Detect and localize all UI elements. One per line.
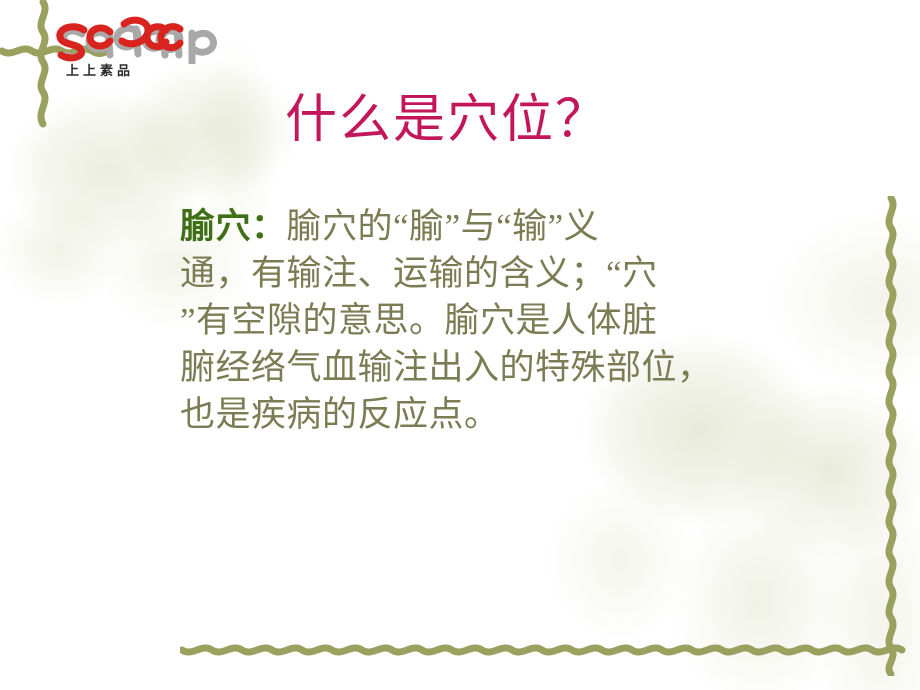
- logo-wordmark-icon: [48, 8, 228, 64]
- presentation-slide: 上上素品 什么是穴位？ 腧穴：腧穴的“腧”与“输”义 通，有输注、运输的含义；“…: [0, 0, 920, 690]
- vine-right-vertical-icon: [878, 196, 904, 676]
- body-line-5: 也是疾病的反应点。: [180, 391, 750, 438]
- body-text-block: 腧穴：腧穴的“腧”与“输”义 通，有输注、运输的含义；“穴 ”有空隙的意思。腧穴…: [180, 203, 750, 438]
- lead-colon: ：: [251, 207, 287, 246]
- body-line-1-text: 腧穴的“腧”与“输”义: [287, 207, 600, 246]
- brand-logo[interactable]: 上上素品: [48, 8, 228, 86]
- body-line-4: 腑经络气血输注出入的特殊部位，: [180, 344, 750, 391]
- body-line-2: 通，有输注、运输的含义；“穴: [180, 250, 750, 297]
- body-line-1: 腧穴：腧穴的“腧”与“输”义: [180, 203, 750, 250]
- logo-subtitle: 上上素品: [66, 60, 134, 79]
- lead-term: 腧穴: [180, 207, 251, 246]
- vine-bottom-horizontal-icon: [180, 636, 910, 662]
- page-title: 什么是穴位？: [285, 92, 609, 149]
- body-line-3: ”有空隙的意思。腧穴是人体脏: [180, 297, 750, 344]
